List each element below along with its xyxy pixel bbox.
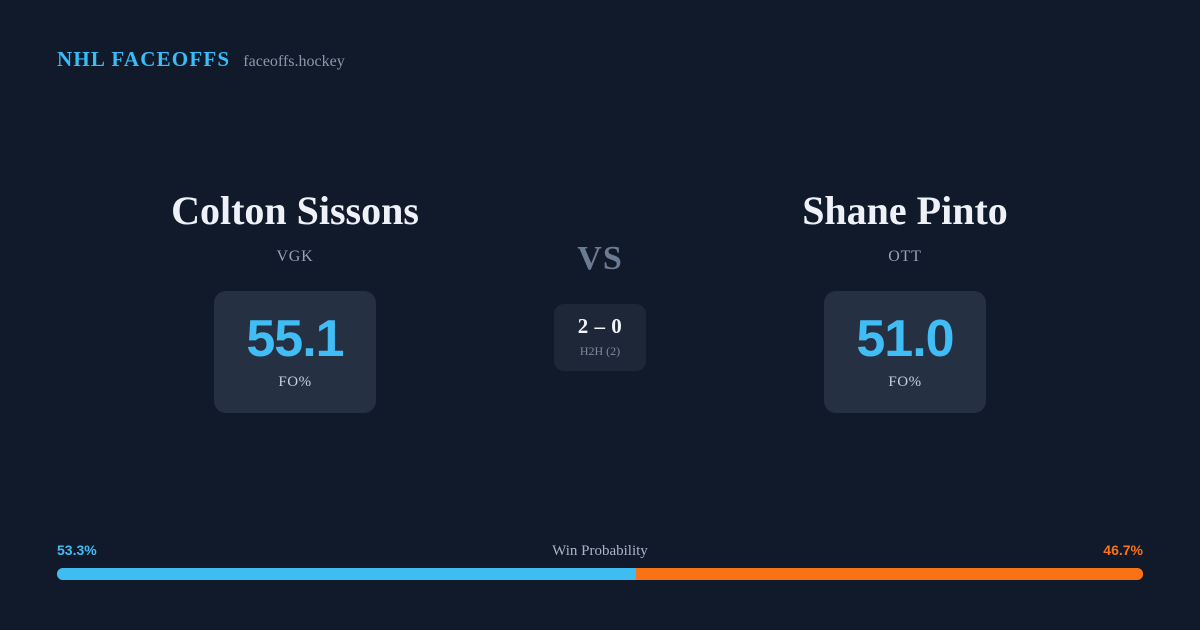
head-to-head-box: 2 – 0 H2H (2): [554, 304, 646, 371]
win-probability-section: 53.3% Win Probability 46.7%: [57, 542, 1143, 580]
player-left-name: Colton Sissons: [171, 190, 419, 232]
player-left-stat-label: FO%: [278, 374, 311, 391]
win-probability-title: Win Probability: [57, 543, 1143, 560]
player-left: Colton Sissons VGK 55.1 FO%: [65, 190, 525, 413]
win-probability-bar-right: [636, 568, 1143, 580]
head-to-head-score: 2 – 0: [578, 316, 623, 337]
brand-title: NHL FACEOFFS: [57, 47, 230, 72]
head-to-head-label: H2H (2): [580, 344, 620, 359]
matchup-section: Colton Sissons VGK 55.1 FO% VS 2 – 0 H2H…: [0, 190, 1200, 413]
win-probability-labels: 53.3% Win Probability 46.7%: [57, 542, 1143, 562]
site-domain: faceoffs.hockey: [243, 53, 344, 71]
faceoff-matchup-card: NHL FACEOFFS faceoffs.hockey Colton Siss…: [0, 0, 1200, 630]
win-probability-bar: [57, 568, 1143, 580]
player-right-team: OTT: [888, 248, 922, 266]
player-right-stat-card: 51.0 FO%: [824, 291, 986, 413]
win-probability-right-value: 46.7%: [1103, 542, 1143, 558]
player-right: Shane Pinto OTT 51.0 FO%: [675, 190, 1135, 413]
player-right-faceoff-pct: 51.0: [856, 313, 953, 365]
site-header: NHL FACEOFFS faceoffs.hockey: [57, 47, 345, 72]
matchup-center: VS 2 – 0 H2H (2): [525, 190, 675, 371]
player-left-team: VGK: [276, 248, 313, 266]
win-probability-bar-left: [57, 568, 636, 580]
player-right-stat-label: FO%: [888, 374, 921, 391]
player-left-faceoff-pct: 55.1: [246, 313, 343, 365]
vs-label: VS: [577, 242, 622, 276]
player-right-name: Shane Pinto: [802, 190, 1008, 232]
player-left-stat-card: 55.1 FO%: [214, 291, 376, 413]
